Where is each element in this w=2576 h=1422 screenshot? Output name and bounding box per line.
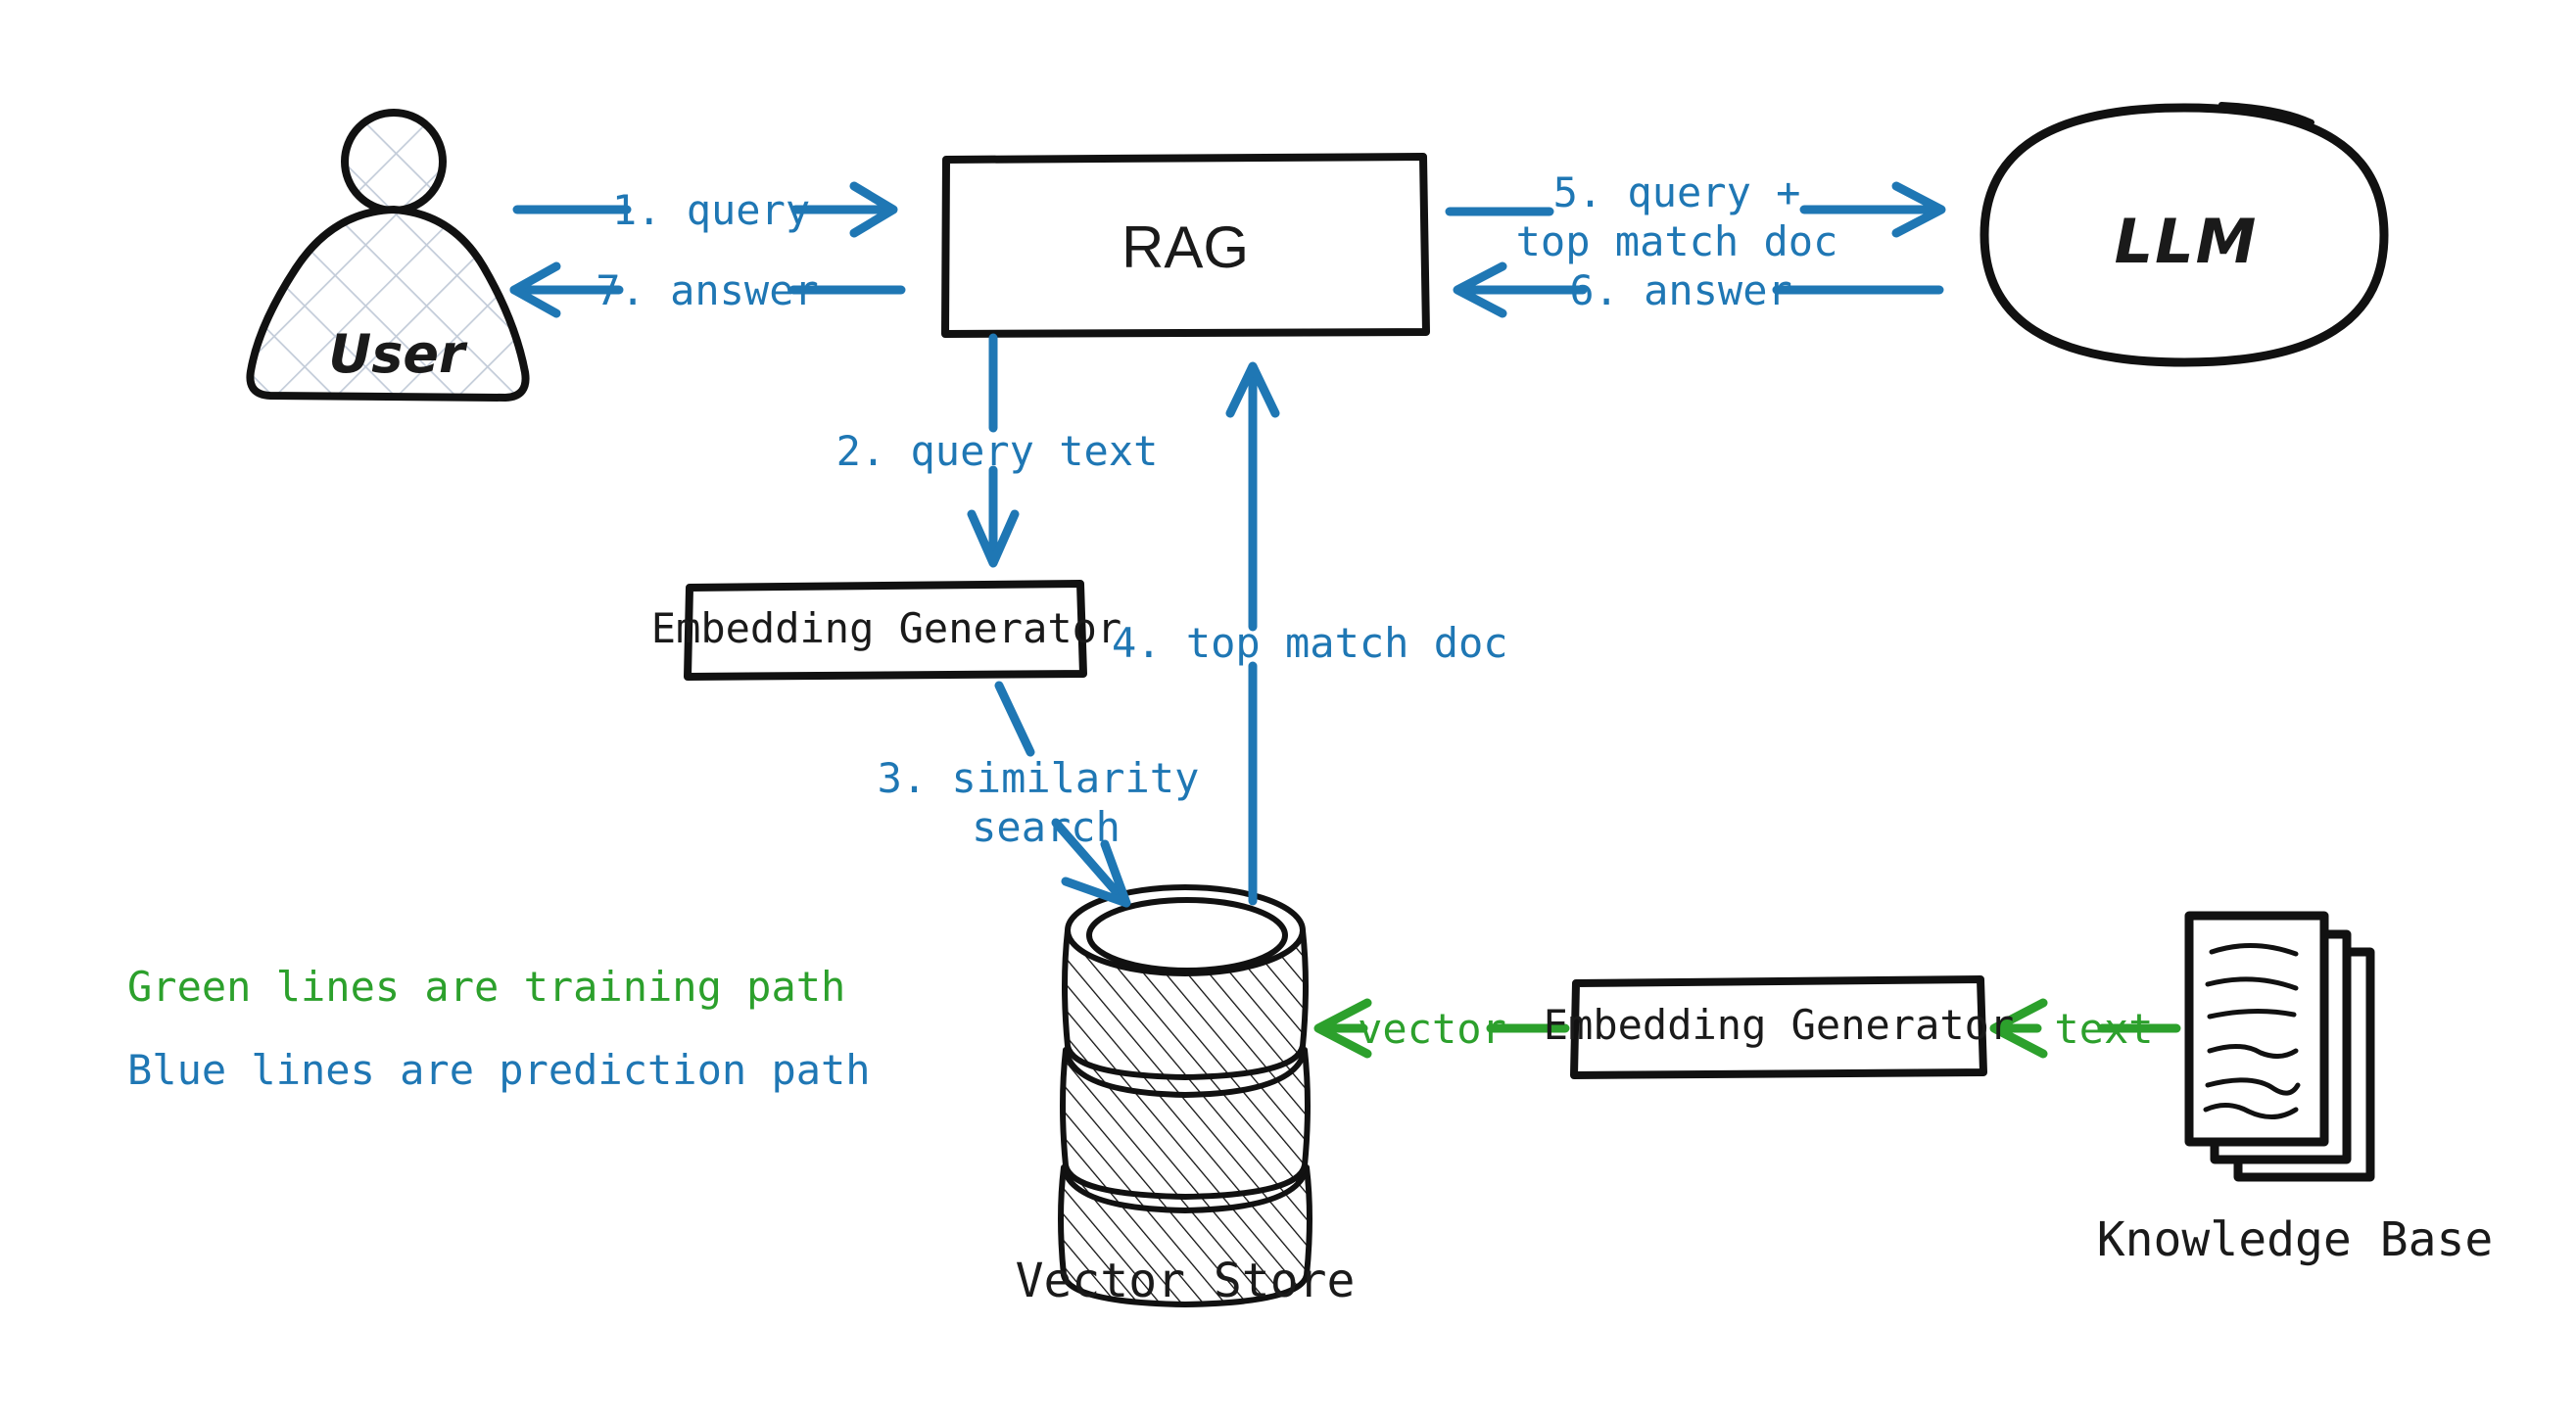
arrow-step7-answer <box>514 266 901 313</box>
knowledge-base-documents-icon <box>2189 916 2370 1177</box>
arrow-vector <box>1318 1003 1565 1054</box>
arrow-step6-answer <box>1457 266 1939 313</box>
arrow-step1-query <box>517 186 893 233</box>
arrow-step3-similarity-search <box>999 686 1126 903</box>
arrow-step4-top-match-doc <box>1230 366 1275 901</box>
arrow-text <box>1994 1003 2176 1054</box>
embedding-generator-ingest-box-shape <box>1574 979 1983 1075</box>
arrow-step2-query-text <box>972 338 1015 563</box>
llm-ellipse-shape <box>1984 105 2384 362</box>
rag-box-shape <box>945 157 1426 334</box>
arrow-step5-query-topmatch <box>1450 186 1941 233</box>
diagram-artwork <box>0 0 2576 1422</box>
user-figure-icon <box>250 113 525 398</box>
diagram-canvas: User RAG LLM Embedding Generator Embeddi… <box>0 0 2576 1422</box>
embedding-generator-query-box-shape <box>688 584 1083 677</box>
vector-store-cylinder-icon <box>1061 887 1310 1304</box>
